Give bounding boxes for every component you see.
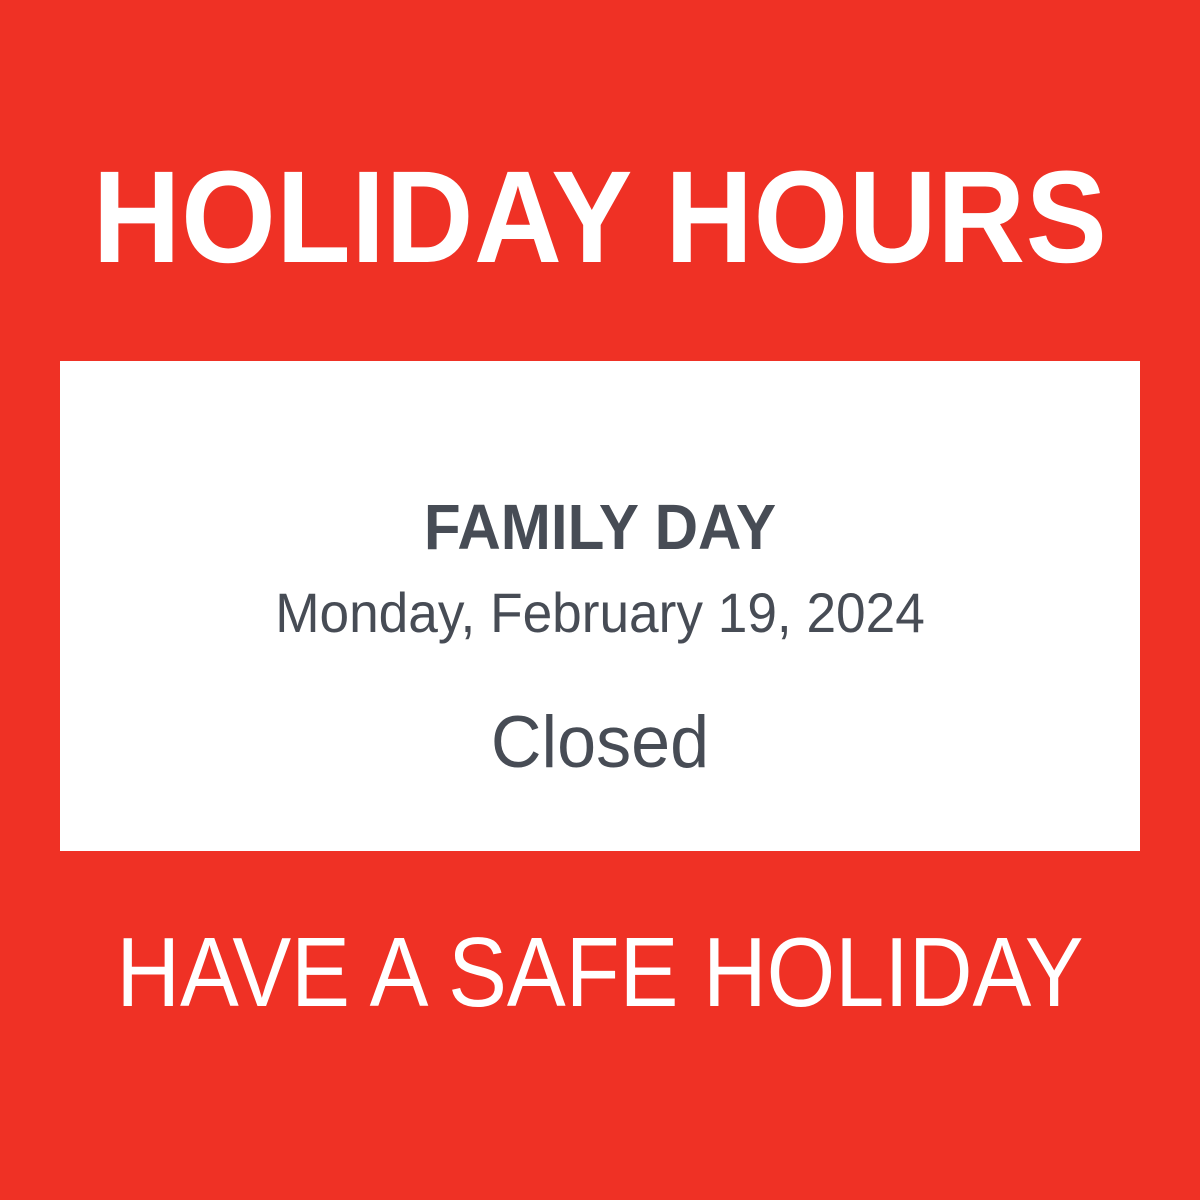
page-title: HOLIDAY HOURS	[42, 146, 1158, 286]
holiday-name: FAMILY DAY	[92, 495, 1107, 559]
holiday-info-card-content: FAMILY DAY Monday, February 19, 2024 Clo…	[60, 361, 1140, 851]
footer-message: HAVE A SAFE HOLIDAY	[60, 920, 1140, 1024]
holiday-date: Monday, February 19, 2024	[87, 585, 1113, 641]
holiday-info-card: FAMILY DAY Monday, February 19, 2024 Clo…	[60, 361, 1140, 851]
holiday-status: Closed	[82, 706, 1119, 779]
holiday-hours-poster: HOLIDAY HOURS FAMILY DAY Monday, Februar…	[0, 0, 1200, 1200]
